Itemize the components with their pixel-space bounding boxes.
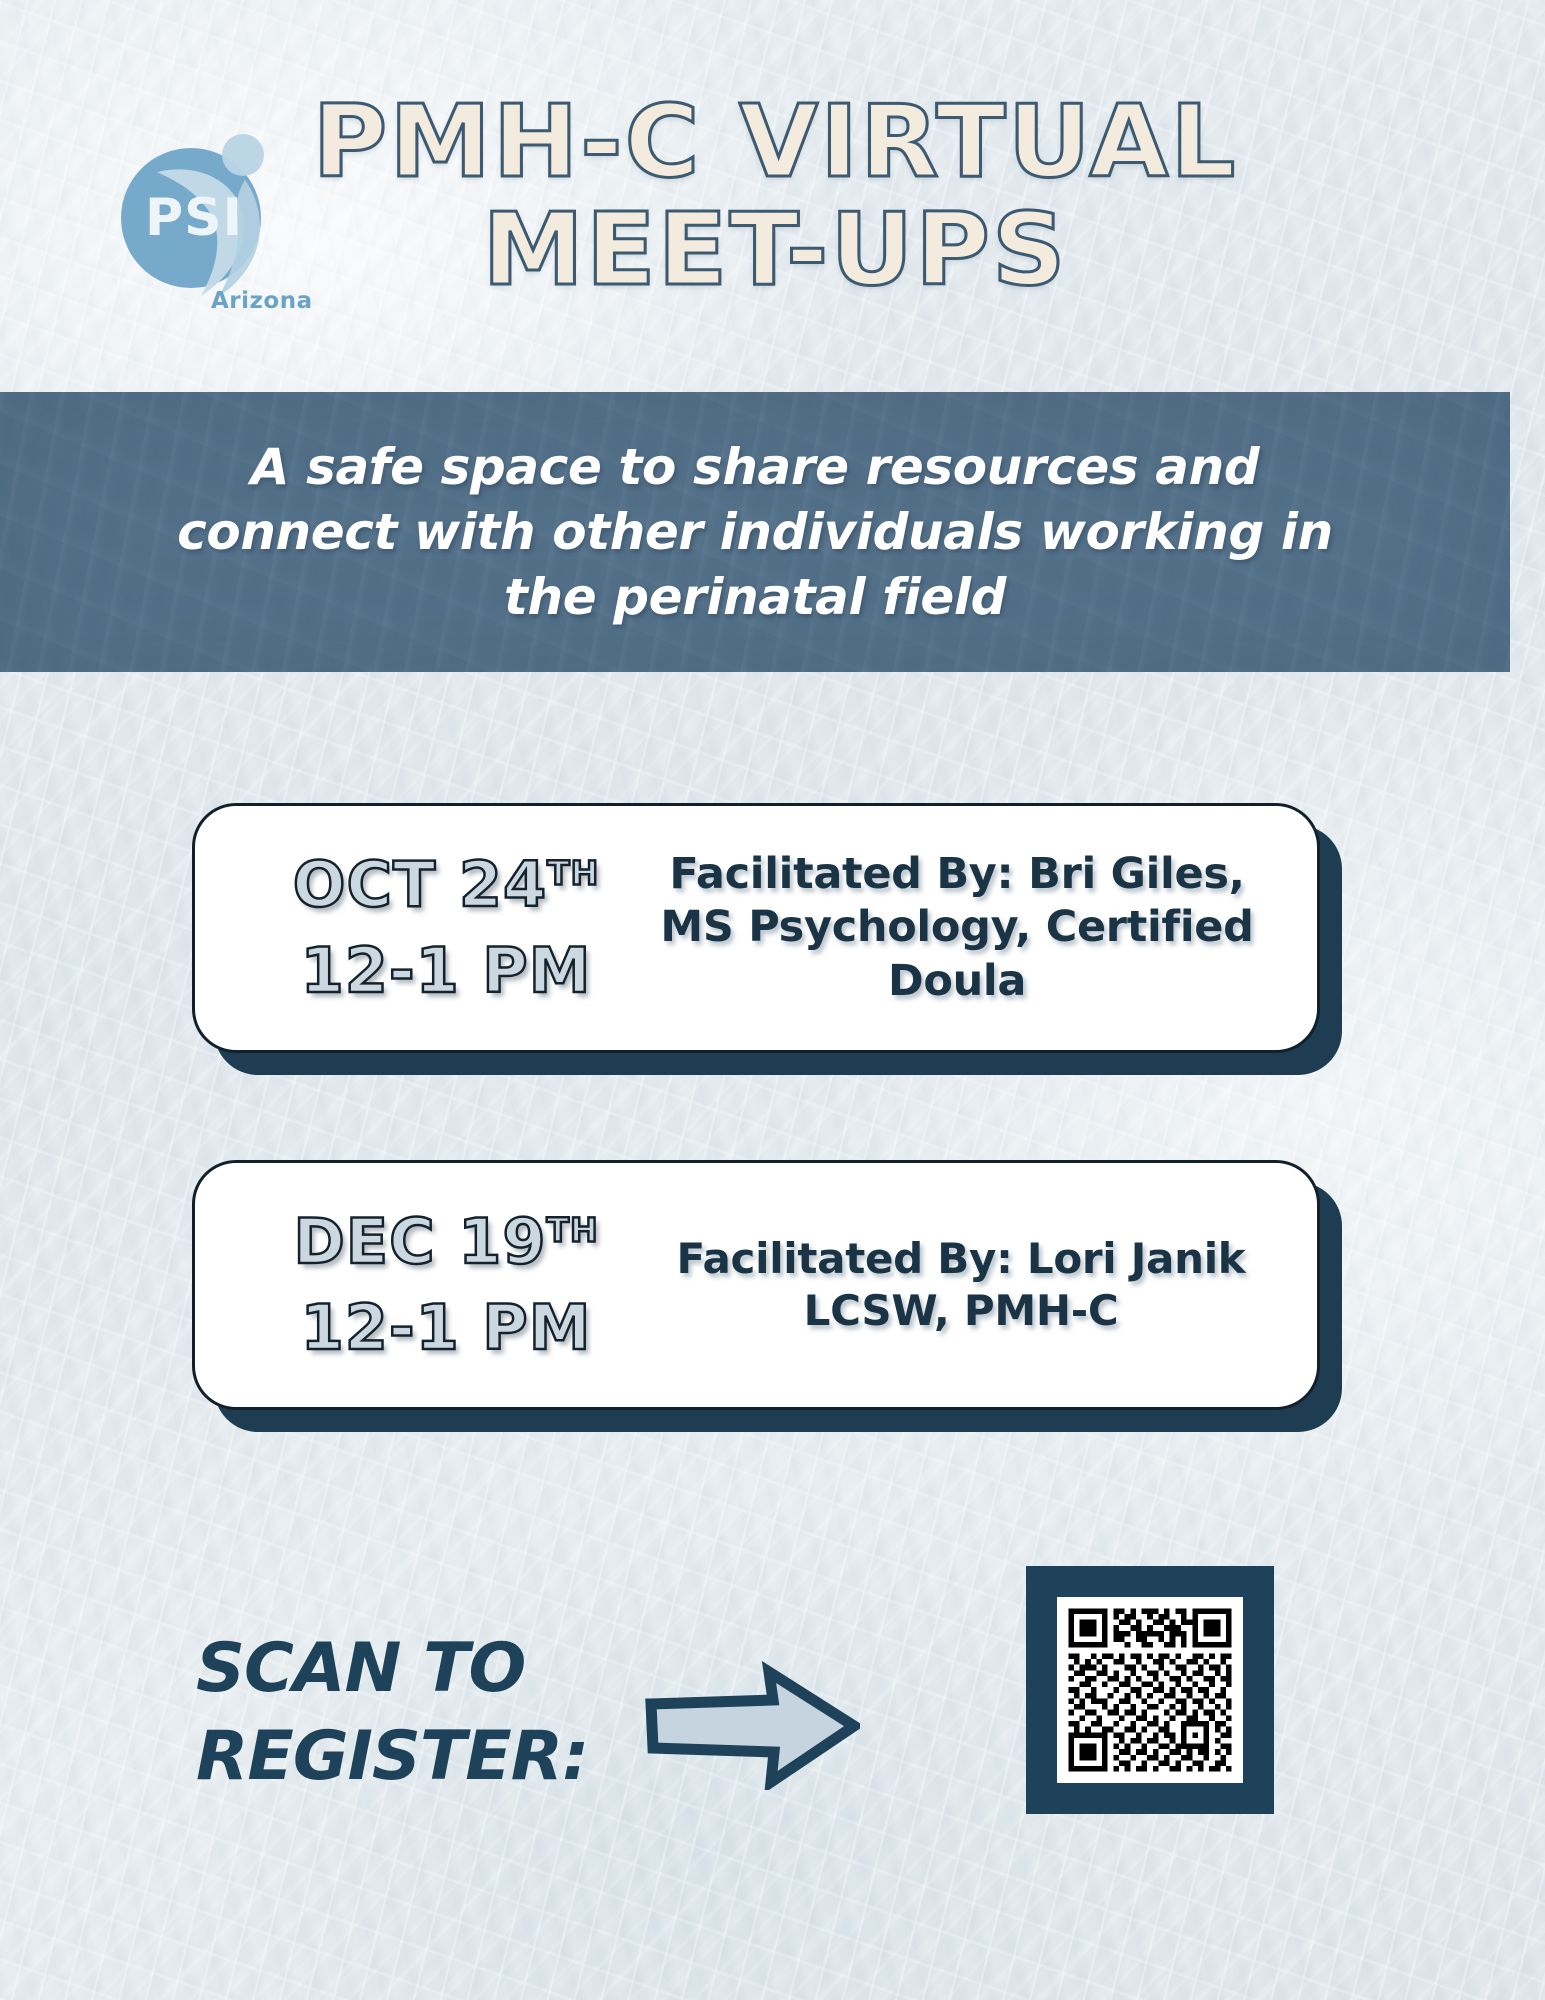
title-line-1: PMH-C VIRTUAL: [255, 88, 1295, 196]
event-date: OCT 24TH: [247, 842, 645, 928]
scan-to-register-label: SCAN TO REGISTER:: [196, 1625, 588, 1802]
event-date-suffix: TH: [547, 854, 599, 893]
event-facilitator: Facilitated By: Bri Giles, MS Psychology…: [645, 848, 1317, 1008]
event-date-suffix: TH: [547, 1211, 599, 1250]
event-facilitator: Facilitated By: Lori Janik LCSW, PMH-C: [645, 1233, 1317, 1337]
event-date-block: DEC 19TH 12-1 PM: [195, 1199, 645, 1370]
event-card: OCT 24TH 12-1 PM Facilitated By: Bri Gil…: [192, 803, 1320, 1053]
event-date-main: OCT 24: [293, 848, 547, 921]
scan-line-2: REGISTER:: [196, 1713, 588, 1801]
tagline-text: A safe space to share resources and conn…: [175, 435, 1335, 630]
qr-code[interactable]: [1057, 1597, 1243, 1783]
qr-code-frame: [1026, 1566, 1274, 1814]
title-line-2: MEET-UPS: [255, 196, 1295, 304]
poster-title: PMH-C VIRTUAL MEET-UPS: [265, 88, 1285, 304]
event-card: DEC 19TH 12-1 PM Facilitated By: Lori Ja…: [192, 1160, 1320, 1410]
event-date: DEC 19TH: [247, 1199, 645, 1285]
event-date-block: OCT 24TH 12-1 PM: [195, 842, 645, 1013]
event-time: 12-1 PM: [247, 1285, 645, 1371]
event-date-main: DEC 19: [293, 1205, 546, 1278]
arrow-right-icon: [645, 1660, 860, 1790]
tagline-banner: A safe space to share resources and conn…: [0, 392, 1510, 672]
svg-text:PSI: PSI: [145, 188, 243, 248]
scan-line-1: SCAN TO: [196, 1625, 588, 1713]
event-time: 12-1 PM: [247, 928, 645, 1014]
poster-canvas: PSI Arizona PMH-C VIRTUAL MEET-UPS A saf…: [0, 0, 1545, 2000]
